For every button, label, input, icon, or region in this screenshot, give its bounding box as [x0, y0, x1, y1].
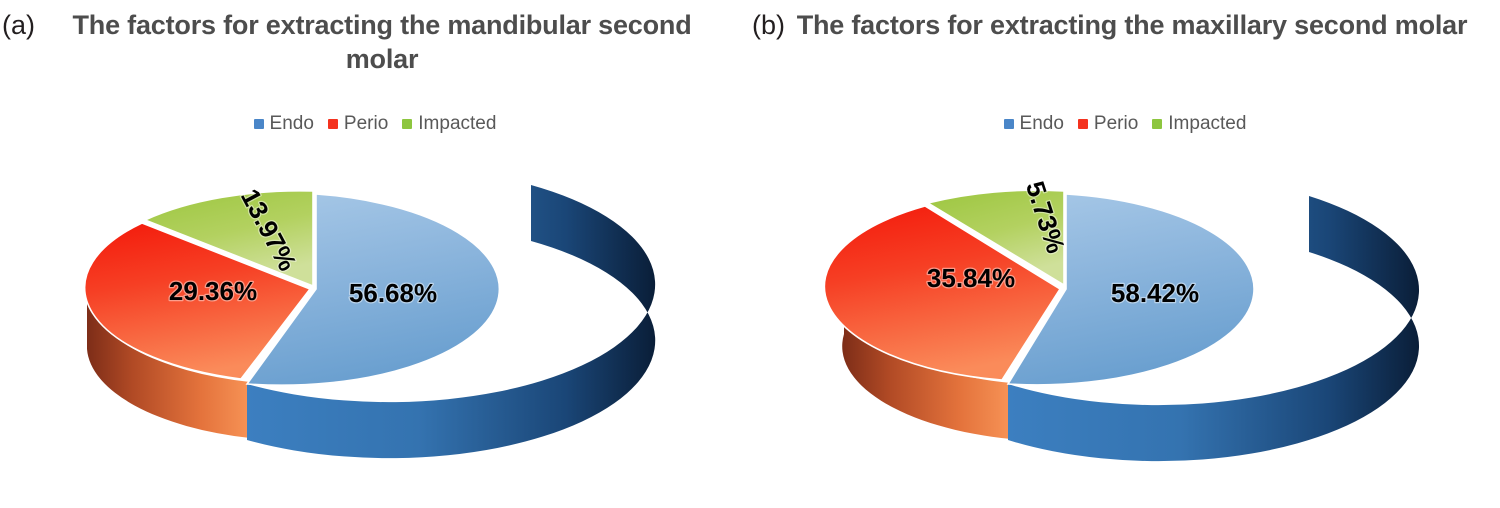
panel-b-header: (b) The factors for extracting the maxil…: [750, 8, 1500, 42]
legend-item-impacted[interactable]: Impacted: [1152, 114, 1246, 133]
pie-a-label-perio: 29.36%: [169, 276, 257, 306]
legend-label-endo: Endo: [270, 114, 314, 133]
panel-a-title: The factors for extracting the mandibula…: [37, 8, 727, 76]
panel-a-header: (a) The factors for extracting the mandi…: [0, 8, 750, 76]
panel-a-letter: (a): [0, 8, 35, 42]
legend-swatch-icon-impacted: [402, 119, 412, 129]
legend-swatch-icon-endo: [1004, 119, 1014, 129]
panel-b-title: The factors for extracting the maxillary…: [787, 8, 1477, 42]
legend-item-perio[interactable]: Perio: [1078, 114, 1138, 133]
legend-swatch-icon-perio: [1078, 119, 1088, 129]
legend-item-impacted[interactable]: Impacted: [402, 114, 496, 133]
panel-b-letter: (b): [750, 8, 785, 42]
legend-label-impacted: Impacted: [1168, 114, 1246, 133]
legend-swatch-icon-impacted: [1152, 119, 1162, 129]
pie-chart-a: 56.68% 29.36% 13.97%: [65, 150, 685, 480]
legend-item-endo[interactable]: Endo: [254, 114, 314, 133]
legend-label-perio: Perio: [1094, 114, 1138, 133]
panel-b-pie-wrap: 58.42% 35.84% 5.73%: [750, 150, 1500, 508]
panel-a-pie-wrap: 56.68% 29.36% 13.97%: [0, 150, 750, 508]
pie-chart-b: 58.42% 35.84% 5.73%: [815, 150, 1435, 480]
legend-swatch-icon-endo: [254, 119, 264, 129]
pie-b-label-perio: 35.84%: [927, 263, 1015, 293]
legend-label-impacted: Impacted: [418, 114, 496, 133]
pie-b-label-endo: 58.42%: [1111, 278, 1199, 308]
panel-b-legend: Endo Perio Impacted: [750, 114, 1500, 133]
panel-a: (a) The factors for extracting the mandi…: [0, 0, 750, 508]
legend-swatch-icon-perio: [328, 119, 338, 129]
legend-item-perio[interactable]: Perio: [328, 114, 388, 133]
figure-two-pie-charts: (a) The factors for extracting the mandi…: [0, 0, 1500, 508]
panel-b: (b) The factors for extracting the maxil…: [750, 0, 1500, 508]
pie-a-label-endo: 56.68%: [349, 278, 437, 308]
legend-label-perio: Perio: [344, 114, 388, 133]
legend-label-endo: Endo: [1020, 114, 1064, 133]
panel-a-legend: Endo Perio Impacted: [0, 114, 750, 133]
legend-item-endo[interactable]: Endo: [1004, 114, 1064, 133]
